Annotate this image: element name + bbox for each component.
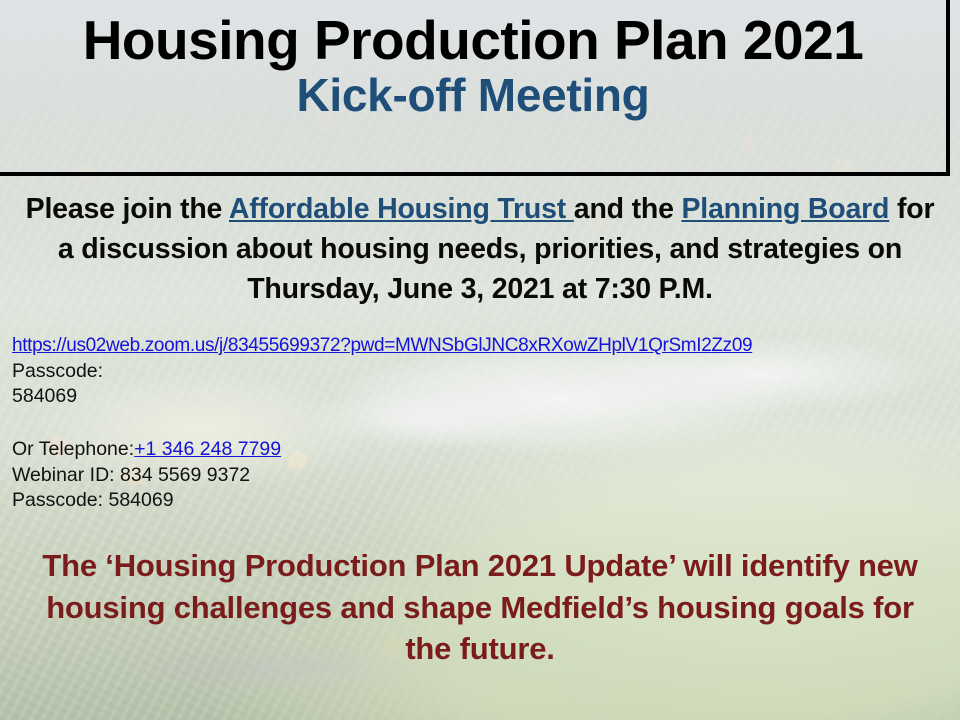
details-spacer [12,409,942,437]
closing-statement: The ‘Housing Production Plan 2021 Update… [40,545,920,670]
title-box: Housing Production Plan 2021 Kick-off Me… [0,0,950,176]
telephone-label: Or Telephone: [12,438,134,460]
affordable-housing-trust-link[interactable]: Affordable Housing Trust [229,193,574,225]
zoom-passcode-value: 584069 [12,384,942,409]
zoom-join-details: https://us02web.zoom.us/j/83455699372?pw… [12,334,942,513]
planning-board-link[interactable]: Planning Board [681,193,889,225]
flyer-content-layer: Housing Production Plan 2021 Kick-off Me… [0,0,960,720]
zoom-passcode-label: Passcode: [12,359,942,384]
passcode-inline-line: Passcode: 584069 [12,488,942,513]
telephone-number-link[interactable]: +1 346 248 7799 [134,438,281,460]
zoom-meeting-url-link[interactable]: https://us02web.zoom.us/j/83455699372?pw… [12,334,942,359]
invitation-text-part-1: Please join the [26,193,229,225]
invitation-text-part-2: and the [574,193,682,225]
meeting-datetime: Thursday, June 3, 2021 at 7:30 P.M. [247,273,713,305]
flyer-canvas: Housing Production Plan 2021 Kick-off Me… [0,0,960,720]
invitation-paragraph: Please join the Affordable Housing Trust… [14,190,946,310]
webinar-id-line: Webinar ID: 834 5569 9372 [12,463,942,488]
page-subtitle: Kick-off Meeting [0,68,946,119]
telephone-line: Or Telephone:+1 346 248 7799 [12,437,942,462]
page-title: Housing Production Plan 2021 [0,0,946,68]
